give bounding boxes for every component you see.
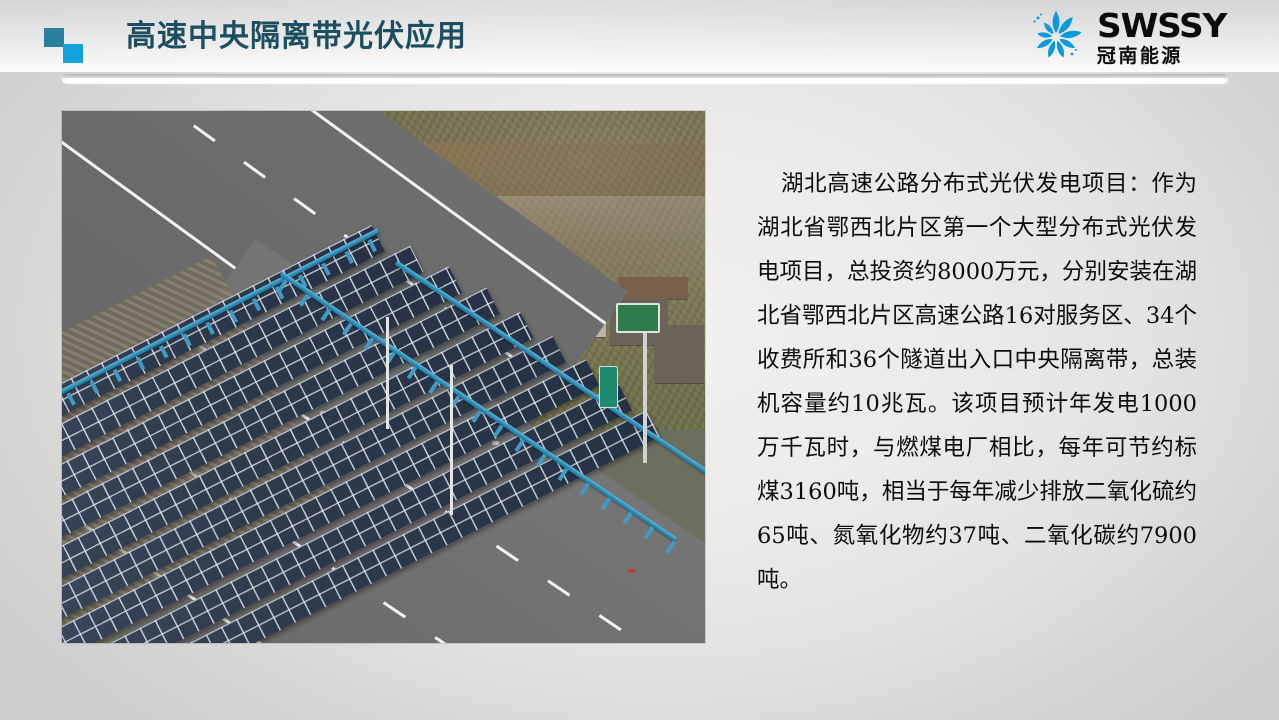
swssy-droplet-mark: [1025, 8, 1087, 66]
content-paragraph-text: 湖北高速公路分布式光伏发电项目：作为湖北省鄂西北片区第一个大型分布式光伏发电项目…: [757, 162, 1197, 602]
project-photo: [62, 111, 705, 643]
page-title: 高速中央隔离带光伏应用: [126, 17, 467, 57]
decoration-square-light: [63, 44, 83, 63]
photo-green-overhead-sign: [616, 303, 660, 333]
photo-lamp-post: [450, 365, 453, 515]
decoration-square-dark: [44, 28, 64, 47]
slide-canvas: 高速中央隔离带光伏应用: [0, 0, 1279, 720]
photo-green-roadside-sign: [599, 366, 618, 408]
photo-building: [654, 325, 704, 383]
logo-wordmark: SWSSY: [1097, 9, 1226, 42]
photo-lamp-post: [386, 317, 389, 429]
content-paragraph: 湖北高速公路分布式光伏发电项目：作为湖北省鄂西北片区第一个大型分布式光伏发电项目…: [757, 162, 1197, 602]
company-logo: SWSSY 冠南能源: [1025, 6, 1221, 68]
logo-subtitle: 冠南能源: [1097, 47, 1221, 66]
logo-text-block: SWSSY 冠南能源: [1097, 9, 1221, 66]
photo-sign-pole: [643, 313, 647, 463]
title-decoration-squares: [44, 28, 90, 64]
header-divider: [62, 74, 1228, 83]
photo-vehicle: [628, 569, 635, 573]
photo-building: [618, 277, 688, 299]
